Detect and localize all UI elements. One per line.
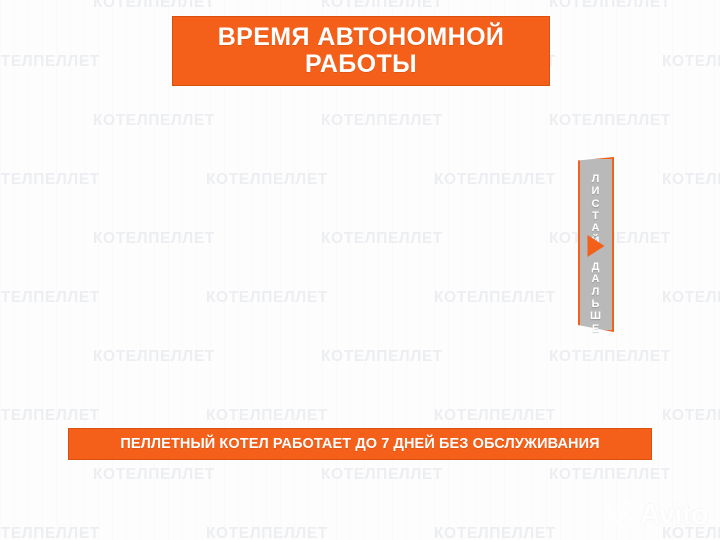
swipe-badge-text-bottom: ДАЛЬШЕ: [578, 261, 614, 335]
play-triangle-right-icon: [588, 235, 605, 257]
avito-wordmark: Avito: [640, 501, 708, 530]
avito-logo-icon: [605, 500, 635, 530]
title-line-2: РАБОТЫ: [218, 51, 505, 78]
bottom-banner: ПЕЛЛЕТНЫЙ КОТЕЛ РАБОТАЕТ ДО 7 ДНЕЙ БЕЗ О…: [68, 428, 652, 460]
title-text: ВРЕМЯ АВТОНОМНОЙ РАБОТЫ: [218, 24, 505, 78]
bottom-banner-text: ПЕЛЛЕТНЫЙ КОТЕЛ РАБОТАЕТ ДО 7 ДНЕЙ БЕЗ О…: [120, 436, 599, 452]
infographic-canvas: КОТЕЛПЕЛЛЕТКОТЕЛПЕЛЛЕТКОТЕЛПЕЛЛЕТКОТЕЛПЕ…: [0, 0, 720, 540]
swipe-next-badge[interactable]: ЛИСТАЙ ДАЛЬШЕ: [578, 157, 614, 332]
avito-watermark: Avito: [605, 500, 708, 530]
title-line-1: ВРЕМЯ АВТОНОМНОЙ: [218, 24, 505, 51]
title-banner: ВРЕМЯ АВТОНОМНОЙ РАБОТЫ: [172, 16, 550, 86]
